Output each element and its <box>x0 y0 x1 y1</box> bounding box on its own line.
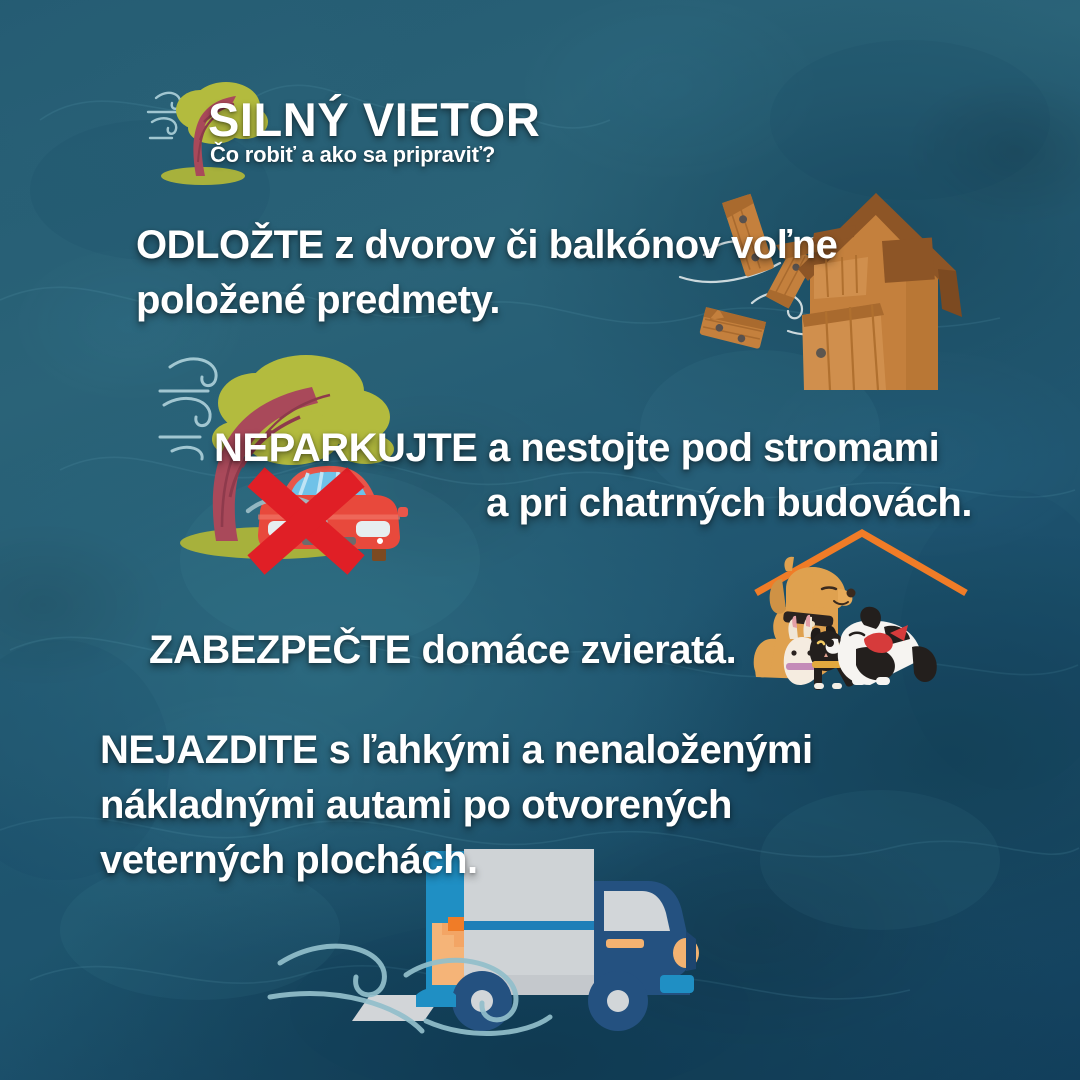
wind-swirl-icon <box>160 359 216 459</box>
page-subtitle: Čo robiť a ako sa pripraviť? <box>210 144 495 166</box>
page-title: SILNÝ VIETOR <box>208 96 540 143</box>
tip-keyword: NEJAZDITE <box>100 728 318 772</box>
tip-nejazdite-line-3: veterných plochách. <box>100 840 478 880</box>
poster-canvas: SILNÝ VIETOR Čo robiť a ako sa pripraviť… <box>0 0 1080 1080</box>
shack-illustration <box>680 185 1080 400</box>
tip-keyword: ODLOŽTE <box>136 223 324 267</box>
tip-nejazdite-line-2: nákladnými autami po otvorených <box>100 785 732 825</box>
tip-keyword: NEPARKUJTE <box>214 426 477 470</box>
tip-text: domáce zvieratá. <box>411 628 736 672</box>
pets-under-roof-icon <box>752 527 982 692</box>
tip-keyword: ZABEZPEČTE <box>149 628 411 672</box>
tip-text: veterných plochách. <box>100 838 478 882</box>
tip-text: a pri chatrných budovách. <box>486 481 972 525</box>
flying-plank-icon <box>699 307 766 349</box>
tip-text: s ľahkými a nenaloženými <box>318 728 813 772</box>
tip-odlozte-line-1: ODLOŽTE z dvorov či balkónov voľne <box>136 225 837 265</box>
wind-swirl-icon <box>148 93 180 138</box>
tip-nejazdite-line-1: NEJAZDITE s ľahkými a nenaloženými <box>100 730 813 770</box>
tip-neparkujte-line-1: NEPARKUJTE a nestojte pod stromami <box>214 428 939 468</box>
tip-text: nákladnými autami po otvorených <box>100 783 732 827</box>
tip-zabezpecte-line-1: ZABEZPEČTE domáce zvieratá. <box>149 630 736 670</box>
tip-text: z dvorov či balkónov voľne <box>324 223 838 267</box>
pets-illustration <box>752 527 982 692</box>
wooden-shack-with-flying-planks-icon <box>680 185 1080 400</box>
tip-text: položené predmety. <box>136 278 500 322</box>
tip-text: a nestojte pod stromami <box>477 426 939 470</box>
tip-odlozte-line-2: položené predmety. <box>136 280 500 320</box>
tip-neparkujte-line-2: a pri chatrných budovách. <box>486 483 972 523</box>
